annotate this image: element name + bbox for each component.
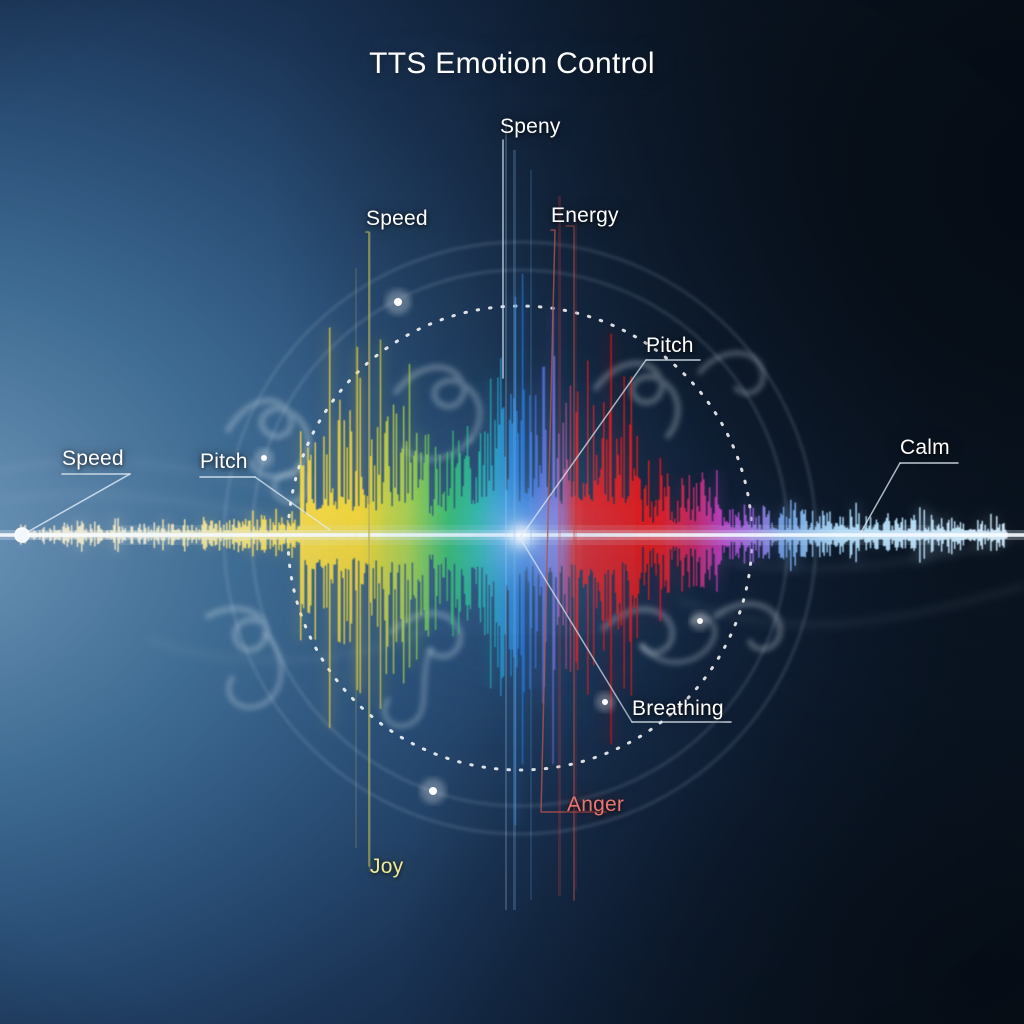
page-title: TTS Emotion Control [0, 47, 1024, 81]
label-joy: Joy [370, 855, 403, 879]
label-breathing: Breathing [632, 697, 724, 721]
label-pitch-right: Pitch [646, 334, 694, 358]
label-speed-left-text: Speed [62, 447, 124, 470]
label-anger-text: Anger [567, 793, 624, 816]
label-joy-text: Joy [370, 855, 403, 878]
label-energy-top-text: Energy [551, 204, 619, 227]
label-anger: Anger [567, 793, 624, 817]
label-speed-left: Speed [62, 447, 124, 471]
label-pitch-left-text: Pitch [200, 450, 248, 473]
tts-emotion-control-visualization: TTS Emotion Control SpeedPitchSpeedSpeny… [0, 0, 1024, 1024]
label-speed-top: Speed [366, 207, 428, 231]
label-pitch-left: Pitch [200, 450, 248, 474]
label-energy-top: Energy [551, 204, 619, 228]
label-speny-top: Speny [500, 115, 561, 139]
page-title-text: TTS Emotion Control [369, 47, 655, 80]
vignette-overlay [0, 0, 1024, 1024]
label-speny-top-text: Speny [500, 115, 561, 138]
label-pitch-right-text: Pitch [646, 334, 694, 357]
label-speed-top-text: Speed [366, 207, 428, 230]
label-calm-right-text: Calm [900, 436, 950, 459]
label-calm-right: Calm [900, 436, 950, 460]
label-breathing-text: Breathing [632, 697, 724, 720]
